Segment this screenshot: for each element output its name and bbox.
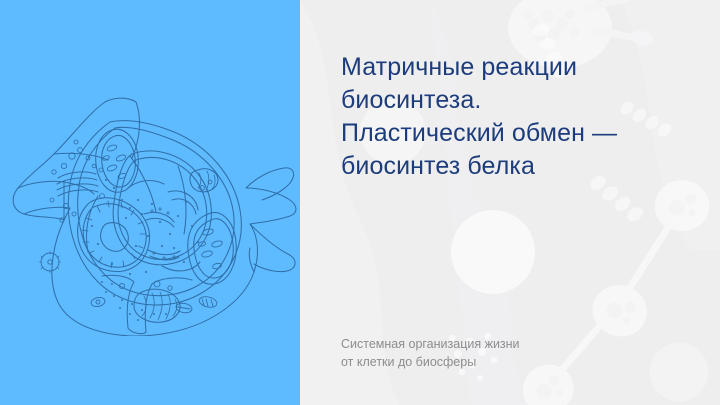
title-line-4: биосинтез белка (341, 150, 701, 183)
slide-title: Матричные реакции биосинтеза. Пластическ… (341, 51, 701, 183)
slide-canvas: Матричные реакции биосинтеза. Пластическ… (0, 0, 720, 405)
subtitle-line-1: Системная организация жизни (341, 335, 681, 353)
slide-subtitle: Системная организация жизни от клетки до… (341, 335, 681, 371)
title-line-1: Матричные реакции (341, 51, 701, 84)
left-blue-panel (0, 0, 300, 405)
plant-cell-illustration (2, 96, 298, 336)
subtitle-line-2: от клетки до биосферы (341, 353, 681, 371)
title-line-2: биосинтеза. (341, 84, 701, 117)
title-line-3: Пластический обмен — (341, 117, 701, 150)
